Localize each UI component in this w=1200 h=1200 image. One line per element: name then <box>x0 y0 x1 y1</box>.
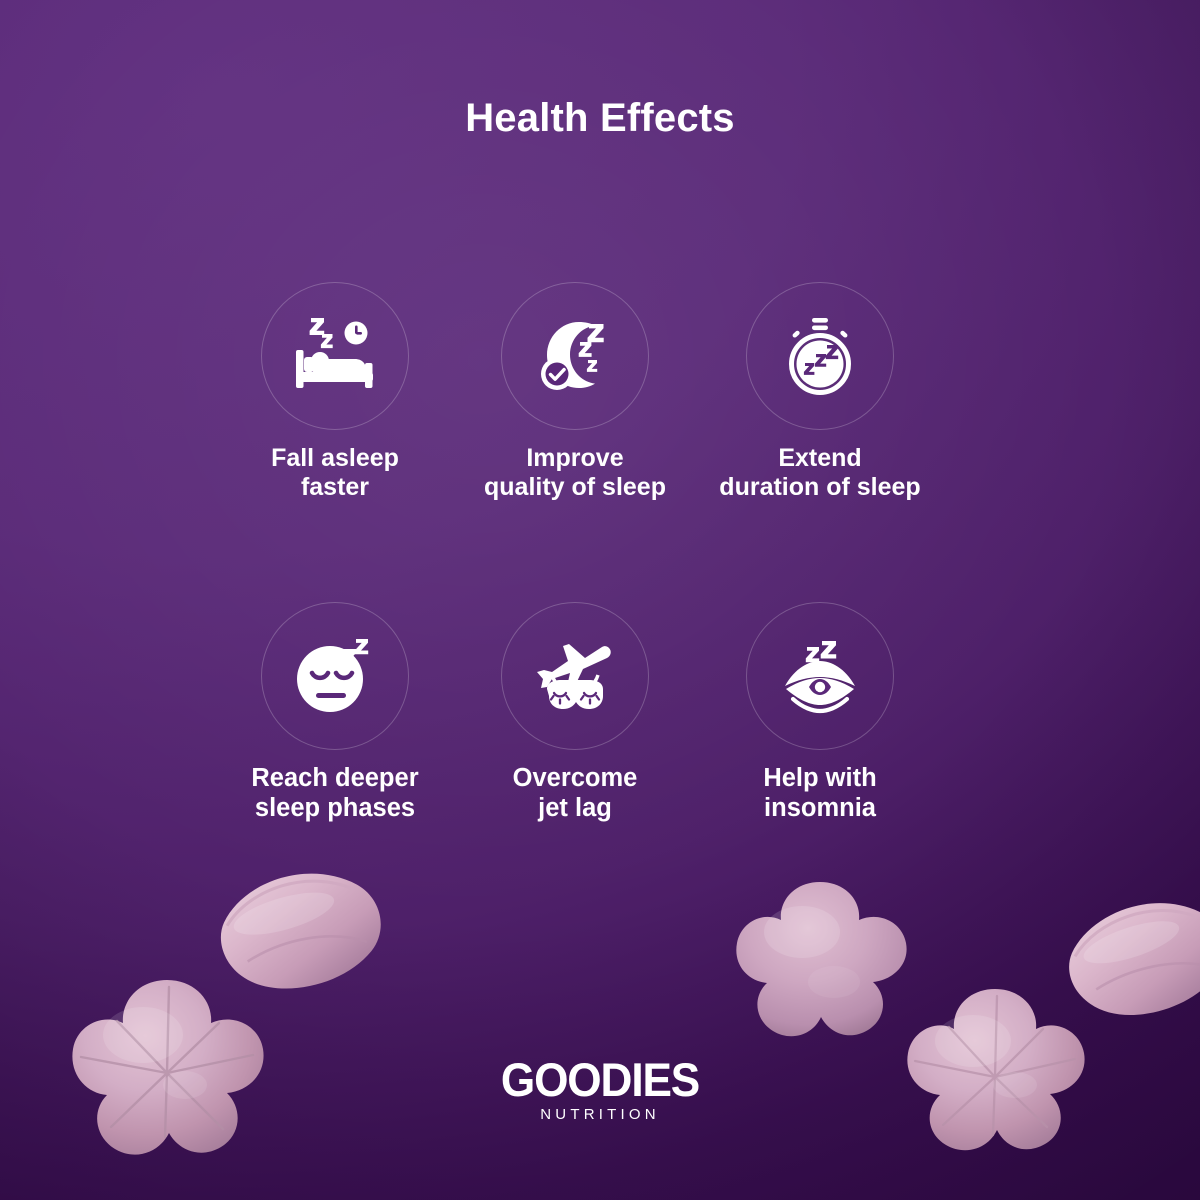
benefit-label: Fall asleepfaster <box>271 444 399 502</box>
benefit-icon-ring <box>501 602 649 750</box>
brand-name: GOODIES <box>36 1056 1164 1103</box>
benefit-icon-ring <box>261 282 409 430</box>
benefit-icon-ring <box>746 282 894 430</box>
benefit-label: Overcomejet lag <box>513 764 638 823</box>
benefits-grid: Fall asleepfaster <box>215 282 1005 823</box>
benefit-overcome-jet-lag: Overcomejet lag <box>455 602 695 823</box>
closed-eye-zz-icon <box>779 637 861 715</box>
benefit-extend-duration-of-sleep: Extendduration of sleep <box>695 282 945 502</box>
benefit-label: Reach deepersleep phases <box>251 764 418 823</box>
person-sleeping-in-bed-with-clock-icon <box>293 316 377 396</box>
benefit-help-with-insomnia: Help withinsomnia <box>695 602 945 823</box>
benefit-icon-ring <box>501 282 649 430</box>
benefit-icon-ring <box>746 602 894 750</box>
benefit-fall-asleep-faster: Fall asleepfaster <box>215 282 455 502</box>
benefits-row-2: Reach deepersleep phases <box>215 602 1005 823</box>
crescent-moon-zzz-checkmark-icon <box>533 316 617 396</box>
benefit-improve-quality-of-sleep: Improvequality of sleep <box>455 282 695 502</box>
benefit-label: Extendduration of sleep <box>719 444 920 502</box>
gummy-flower-center-right <box>728 878 913 1053</box>
stopwatch-zzz-icon <box>780 316 860 396</box>
benefits-row-1: Fall asleepfaster <box>215 282 1005 502</box>
brand-tagline: NUTRITION <box>0 1107 1200 1122</box>
sleeping-face-zzz-icon <box>294 637 376 715</box>
benefit-icon-ring <box>261 602 409 750</box>
page-title: Health Effects <box>0 96 1200 141</box>
benefit-label: Help withinsomnia <box>763 764 876 823</box>
brand-logo: GOODIES NUTRITION <box>0 1056 1200 1122</box>
airplane-sleep-mask-icon <box>533 638 617 714</box>
benefit-label: Improvequality of sleep <box>484 444 666 502</box>
benefit-reach-deeper-sleep-phases: Reach deepersleep phases <box>215 602 455 823</box>
